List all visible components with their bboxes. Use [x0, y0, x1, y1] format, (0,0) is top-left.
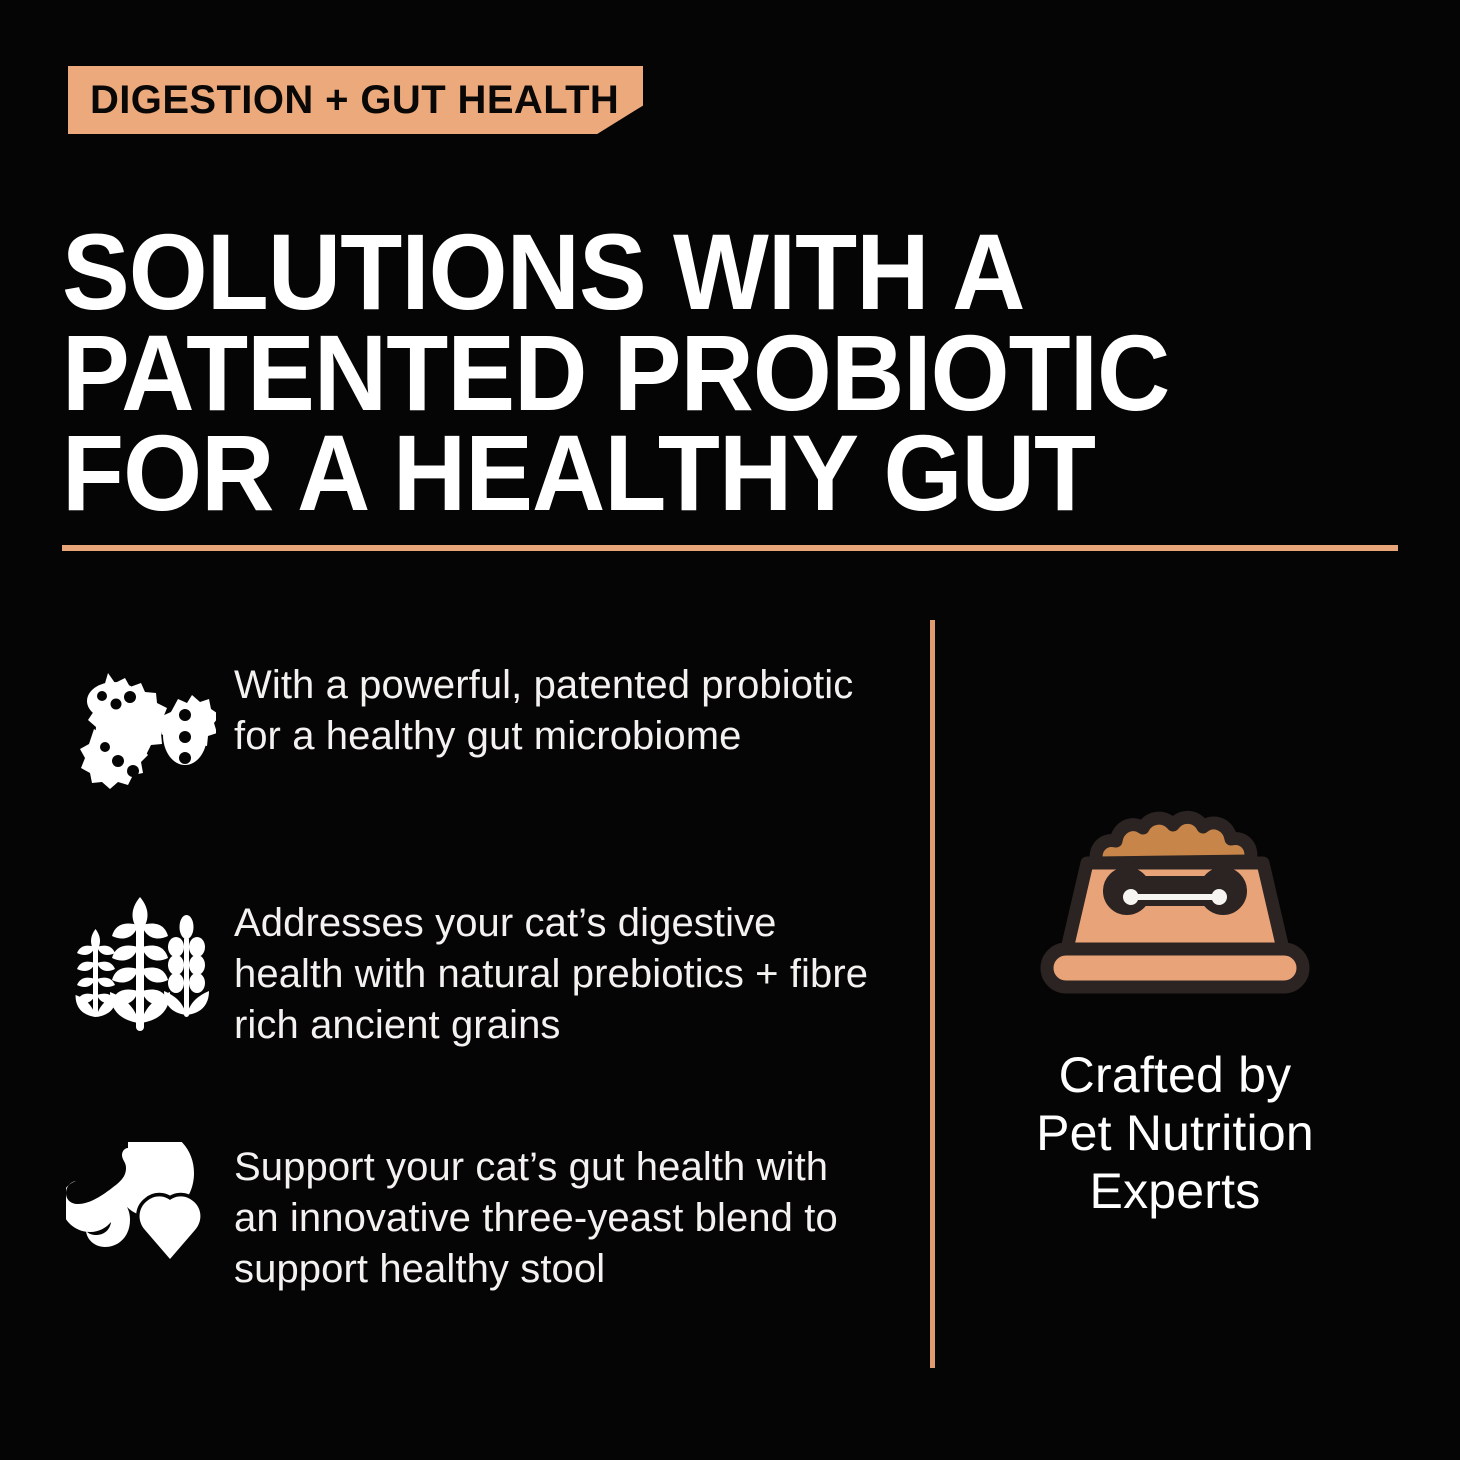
list-item-label: With a powerful, patented probiotic for …	[234, 648, 882, 762]
vertical-divider	[930, 620, 935, 1368]
page-title: SOLUTIONS WITH A PATENTED PROBIOTIC FOR …	[62, 222, 1322, 523]
headline-line-3: FOR A HEALTHY GUT	[62, 423, 1322, 523]
bacteria-icon	[62, 648, 234, 808]
horizontal-divider	[62, 545, 1398, 551]
stomach-heart-icon	[62, 1130, 234, 1290]
headline-line-2: PATENTED PROBIOTIC	[62, 323, 1322, 423]
benefits-list: With a powerful, patented probiotic for …	[62, 648, 882, 1295]
list-item-label: Support your cat’s gut health with an in…	[234, 1130, 882, 1296]
pet-food-bowl-icon	[945, 780, 1405, 1010]
caption-line-3: Experts	[945, 1162, 1405, 1220]
category-badge-label: DIGESTION + GUT HEALTH	[90, 78, 619, 123]
list-item: Support your cat’s gut health with an in…	[62, 1130, 882, 1296]
list-item-label: Addresses your cat’s digestive health wi…	[234, 886, 882, 1052]
crafted-by-caption: Crafted by Pet Nutrition Experts	[945, 1046, 1405, 1220]
caption-line-2: Pet Nutrition	[945, 1104, 1405, 1162]
crafted-by-panel: Crafted by Pet Nutrition Experts	[945, 780, 1405, 1220]
caption-line-1: Crafted by	[945, 1046, 1405, 1104]
category-badge: DIGESTION + GUT HEALTH	[68, 66, 643, 134]
list-item: Addresses your cat’s digestive health wi…	[62, 886, 882, 1052]
list-item: With a powerful, patented probiotic for …	[62, 648, 882, 808]
infographic-canvas: DIGESTION + GUT HEALTH SOLUTIONS WITH A …	[0, 0, 1460, 1460]
wheat-grains-icon	[62, 886, 234, 1046]
headline-line-1: SOLUTIONS WITH A	[62, 222, 1322, 322]
